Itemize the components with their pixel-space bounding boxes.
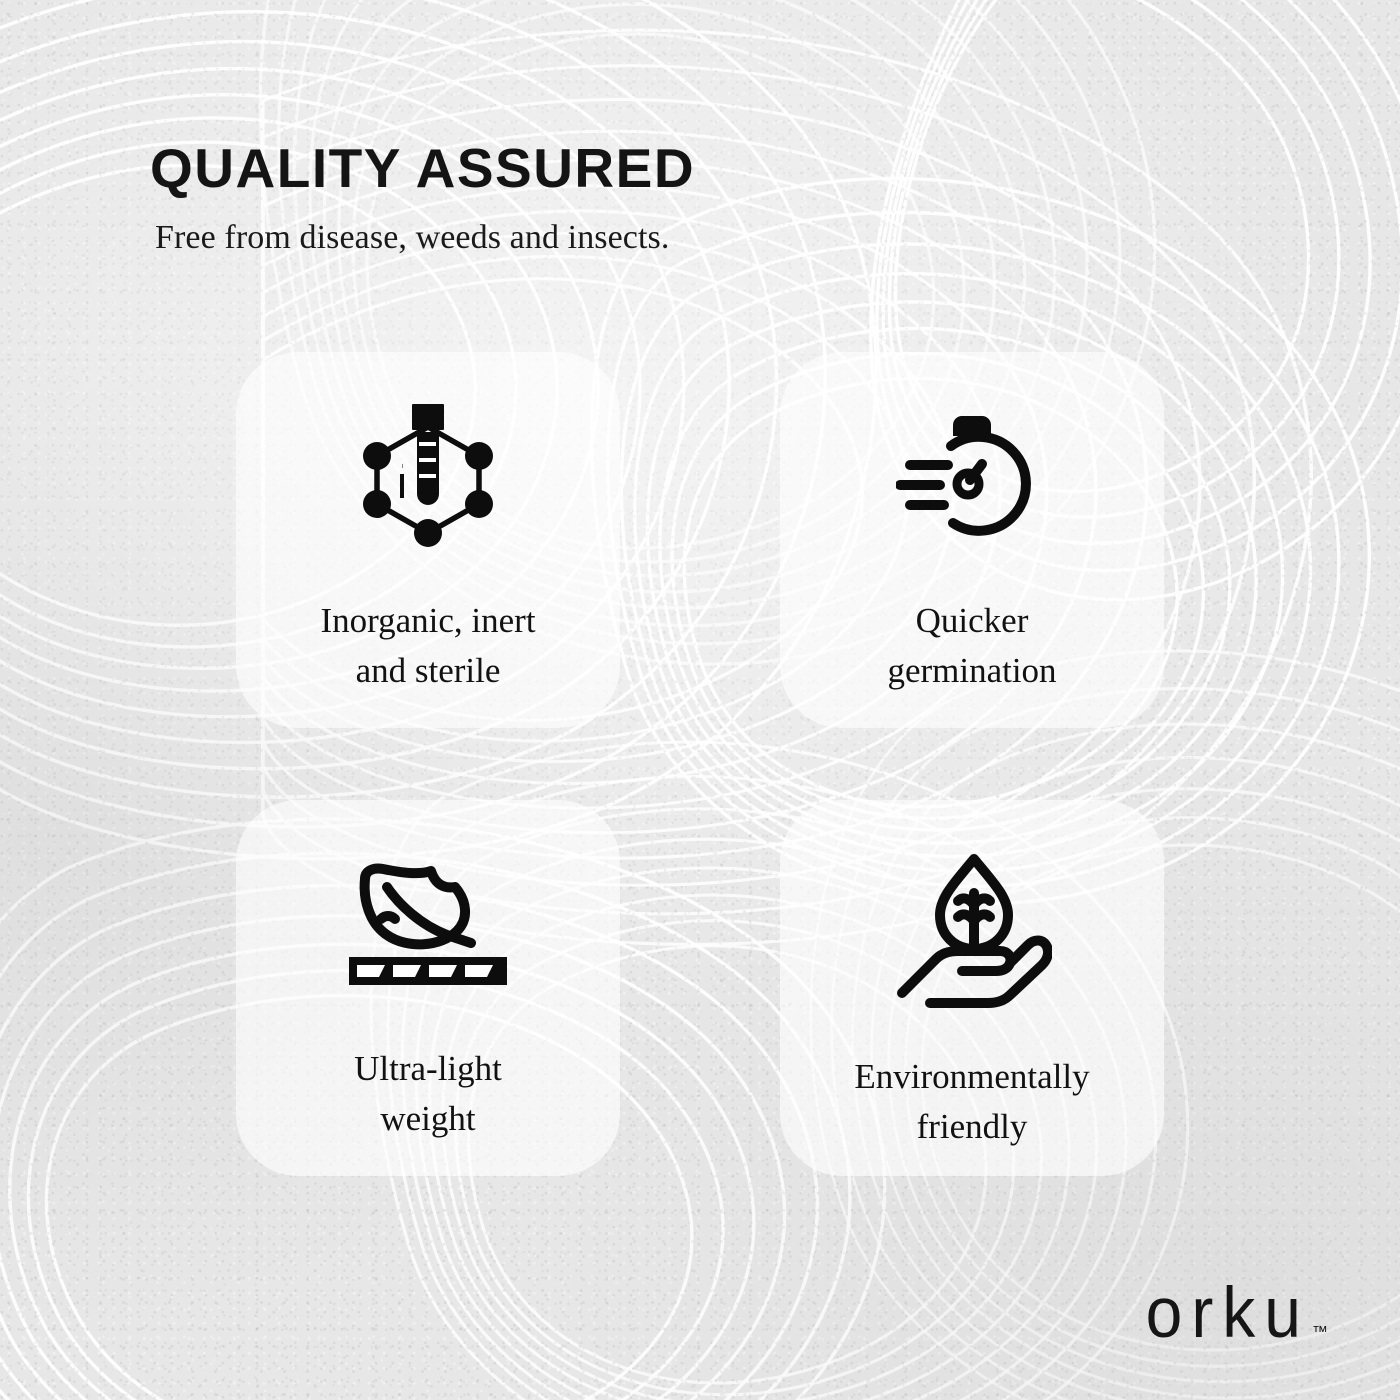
feature-card-label: Inorganic, inert and sterile — [320, 596, 535, 695]
feature-card-inorganic: Inorganic, inert and sterile — [236, 352, 620, 728]
page-title: QUALITY ASSURED — [150, 140, 695, 197]
feature-card-label: Environmentally friendly — [854, 1052, 1089, 1151]
feature-card-grid: Inorganic, inert and sterile — [236, 352, 1164, 1176]
header: QUALITY ASSURED Free from disease, weeds… — [150, 140, 695, 257]
molecule-test-tube-icon — [357, 404, 499, 554]
feature-card-quicker: Quicker germination — [780, 352, 1164, 728]
feature-card-eco: Environmentally friendly — [780, 800, 1164, 1176]
brand-logo: orku ™ — [1146, 1282, 1328, 1348]
feature-card-ultralight: Ultra-light weight — [236, 800, 620, 1176]
feature-card-label: Quicker germination — [887, 596, 1056, 695]
feature-card-label: Ultra-light weight — [354, 1044, 502, 1143]
leaf-in-hand-icon — [892, 852, 1052, 1010]
page-content: QUALITY ASSURED Free from disease, weeds… — [0, 0, 1400, 1400]
feather-on-scale-icon — [343, 852, 513, 1002]
page-subtitle: Free from disease, weeds and insects. — [155, 219, 695, 257]
stopwatch-speed-icon — [896, 404, 1048, 554]
trademark-symbol: ™ — [1312, 1324, 1328, 1342]
brand-wordmark: orku — [1146, 1277, 1310, 1348]
